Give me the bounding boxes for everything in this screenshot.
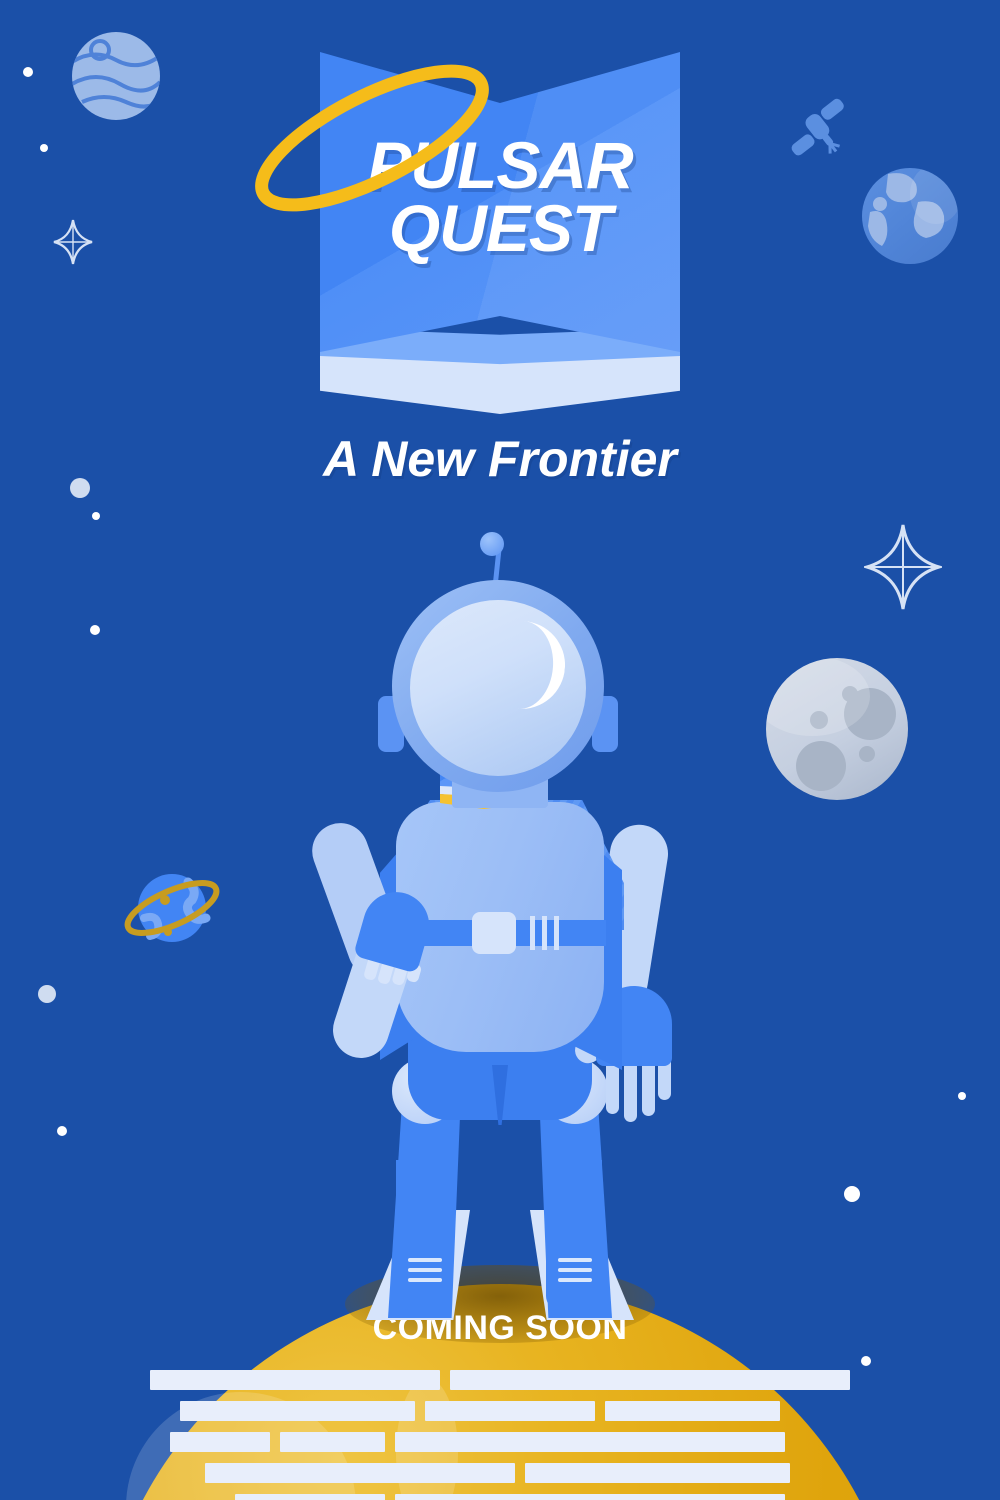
shin-left: [396, 1160, 452, 1310]
belt-stripe: [530, 916, 535, 950]
placeholder-bar: [150, 1370, 440, 1390]
belt-buckle: [472, 912, 516, 954]
placeholder-bar: [205, 1463, 515, 1483]
boot-stripe: [408, 1258, 442, 1262]
belt-stripe: [542, 916, 547, 950]
placeholder-bar: [180, 1401, 415, 1421]
planet-ringed-shape: [118, 860, 226, 956]
star-dot: [23, 67, 33, 77]
sparkle-icon-large: [864, 522, 942, 612]
placeholder-row: [150, 1370, 850, 1390]
logo-orbit-ring-icon: [242, 26, 502, 286]
antenna-ball-icon: [480, 532, 504, 556]
placeholder-row: [180, 1401, 850, 1421]
placeholder-bar: [605, 1401, 780, 1421]
placeholder-text-bars: [150, 1370, 850, 1500]
boot-stripe: [558, 1268, 592, 1272]
planet-striped: [72, 32, 160, 120]
star-dot: [92, 512, 100, 520]
star-dot: [958, 1092, 966, 1100]
placeholder-row: [235, 1494, 850, 1500]
boot-stripe: [558, 1278, 592, 1282]
star-dot: [861, 1356, 871, 1366]
shin-right: [546, 1160, 602, 1310]
placeholder-bar: [450, 1370, 850, 1390]
placeholder-bar: [235, 1494, 385, 1500]
moon-craters: [766, 658, 908, 800]
finger-right: [642, 1058, 655, 1116]
placeholder-bar: [280, 1432, 385, 1452]
star-dot: [57, 1126, 67, 1136]
placeholder-bar: [395, 1494, 785, 1500]
star-dot: [844, 1186, 860, 1202]
planet-ringed: [118, 860, 226, 961]
astronaut-figure: CAPTAIN PULSAR: [300, 520, 700, 1310]
planet-moon: [766, 658, 908, 800]
placeholder-row: [205, 1463, 850, 1483]
boot-stripe: [408, 1268, 442, 1272]
placeholder-bar: [395, 1432, 785, 1452]
planet-striped-bands: [72, 32, 160, 120]
placeholder-bar: [525, 1463, 790, 1483]
placeholder-bar: [425, 1401, 595, 1421]
boot-stripe: [408, 1278, 442, 1282]
helmet-visor: [410, 600, 586, 776]
planet-earth: [862, 168, 958, 264]
star-dot: [90, 625, 100, 635]
planet-earth-continents: [862, 168, 958, 264]
star-dot: [38, 985, 56, 1003]
placeholder-row: [170, 1432, 850, 1452]
star-dot: [40, 144, 48, 152]
placeholder-bar: [170, 1432, 270, 1452]
logo-chevron-light: [320, 356, 680, 414]
coming-soon-label: COMING SOON: [0, 1309, 1000, 1348]
satellite-icon: [778, 88, 856, 166]
poster-root: COMING SOON: [0, 0, 1000, 1500]
boot-stripe: [558, 1258, 592, 1262]
sparkle-icon-small: [52, 218, 94, 266]
finger-right: [624, 1060, 637, 1122]
belt-stripe: [554, 916, 559, 950]
tagline: A New Frontier: [0, 430, 1000, 488]
logo: PULSAR QUEST: [300, 38, 700, 428]
